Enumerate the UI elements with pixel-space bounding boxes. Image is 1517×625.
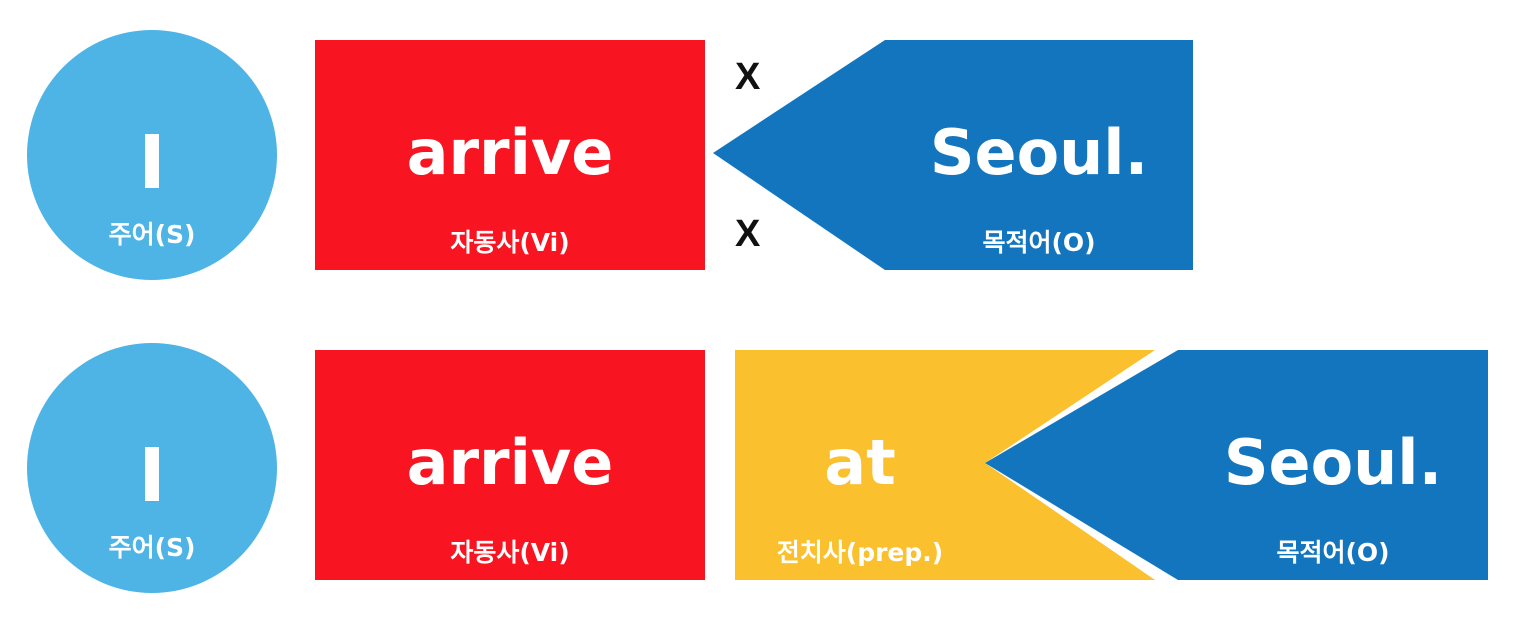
subject-label-row1: 주어(S) bbox=[27, 222, 277, 247]
object-word-row2: Seoul. bbox=[1178, 432, 1488, 494]
object-label-row1: 목적어(O) bbox=[885, 230, 1193, 255]
verb-word-row2: arrive bbox=[315, 432, 705, 494]
verb-box-row2[interactable]: arrive 자동사(Vi) bbox=[315, 350, 705, 580]
preposition-label-row2: 전치사(prep.) bbox=[735, 540, 985, 565]
subject-label-row2: 주어(S) bbox=[27, 535, 277, 560]
sentence-row-incorrect: I 주어(S) arrive 자동사(Vi) X X Seoul. 목적어( bbox=[0, 0, 1517, 312]
diagram-canvas: I 주어(S) arrive 자동사(Vi) X X Seoul. 목적어( bbox=[0, 0, 1517, 625]
preposition-word-row2: at bbox=[735, 432, 985, 494]
subject-circle-row1[interactable]: I 주어(S) bbox=[27, 30, 277, 280]
object-arrow-row1[interactable]: Seoul. 목적어(O) bbox=[713, 40, 1193, 270]
verb-box-row1[interactable]: arrive 자동사(Vi) bbox=[315, 40, 705, 270]
subject-circle-row2[interactable]: I 주어(S) bbox=[27, 343, 277, 593]
object-word-row1: Seoul. bbox=[885, 122, 1193, 184]
object-arrow-row2[interactable]: Seoul. 목적어(O) bbox=[985, 350, 1488, 580]
verb-word-row1: arrive bbox=[315, 122, 705, 184]
verb-label-row1: 자동사(Vi) bbox=[315, 230, 705, 255]
subject-word-row1: I bbox=[27, 126, 277, 200]
sentence-row-correct: I 주어(S) arrive 자동사(Vi) at 전치사(prep.) bbox=[0, 313, 1517, 625]
object-label-row2: 목적어(O) bbox=[1178, 540, 1488, 565]
subject-word-row2: I bbox=[27, 439, 277, 513]
verb-label-row2: 자동사(Vi) bbox=[315, 540, 705, 565]
